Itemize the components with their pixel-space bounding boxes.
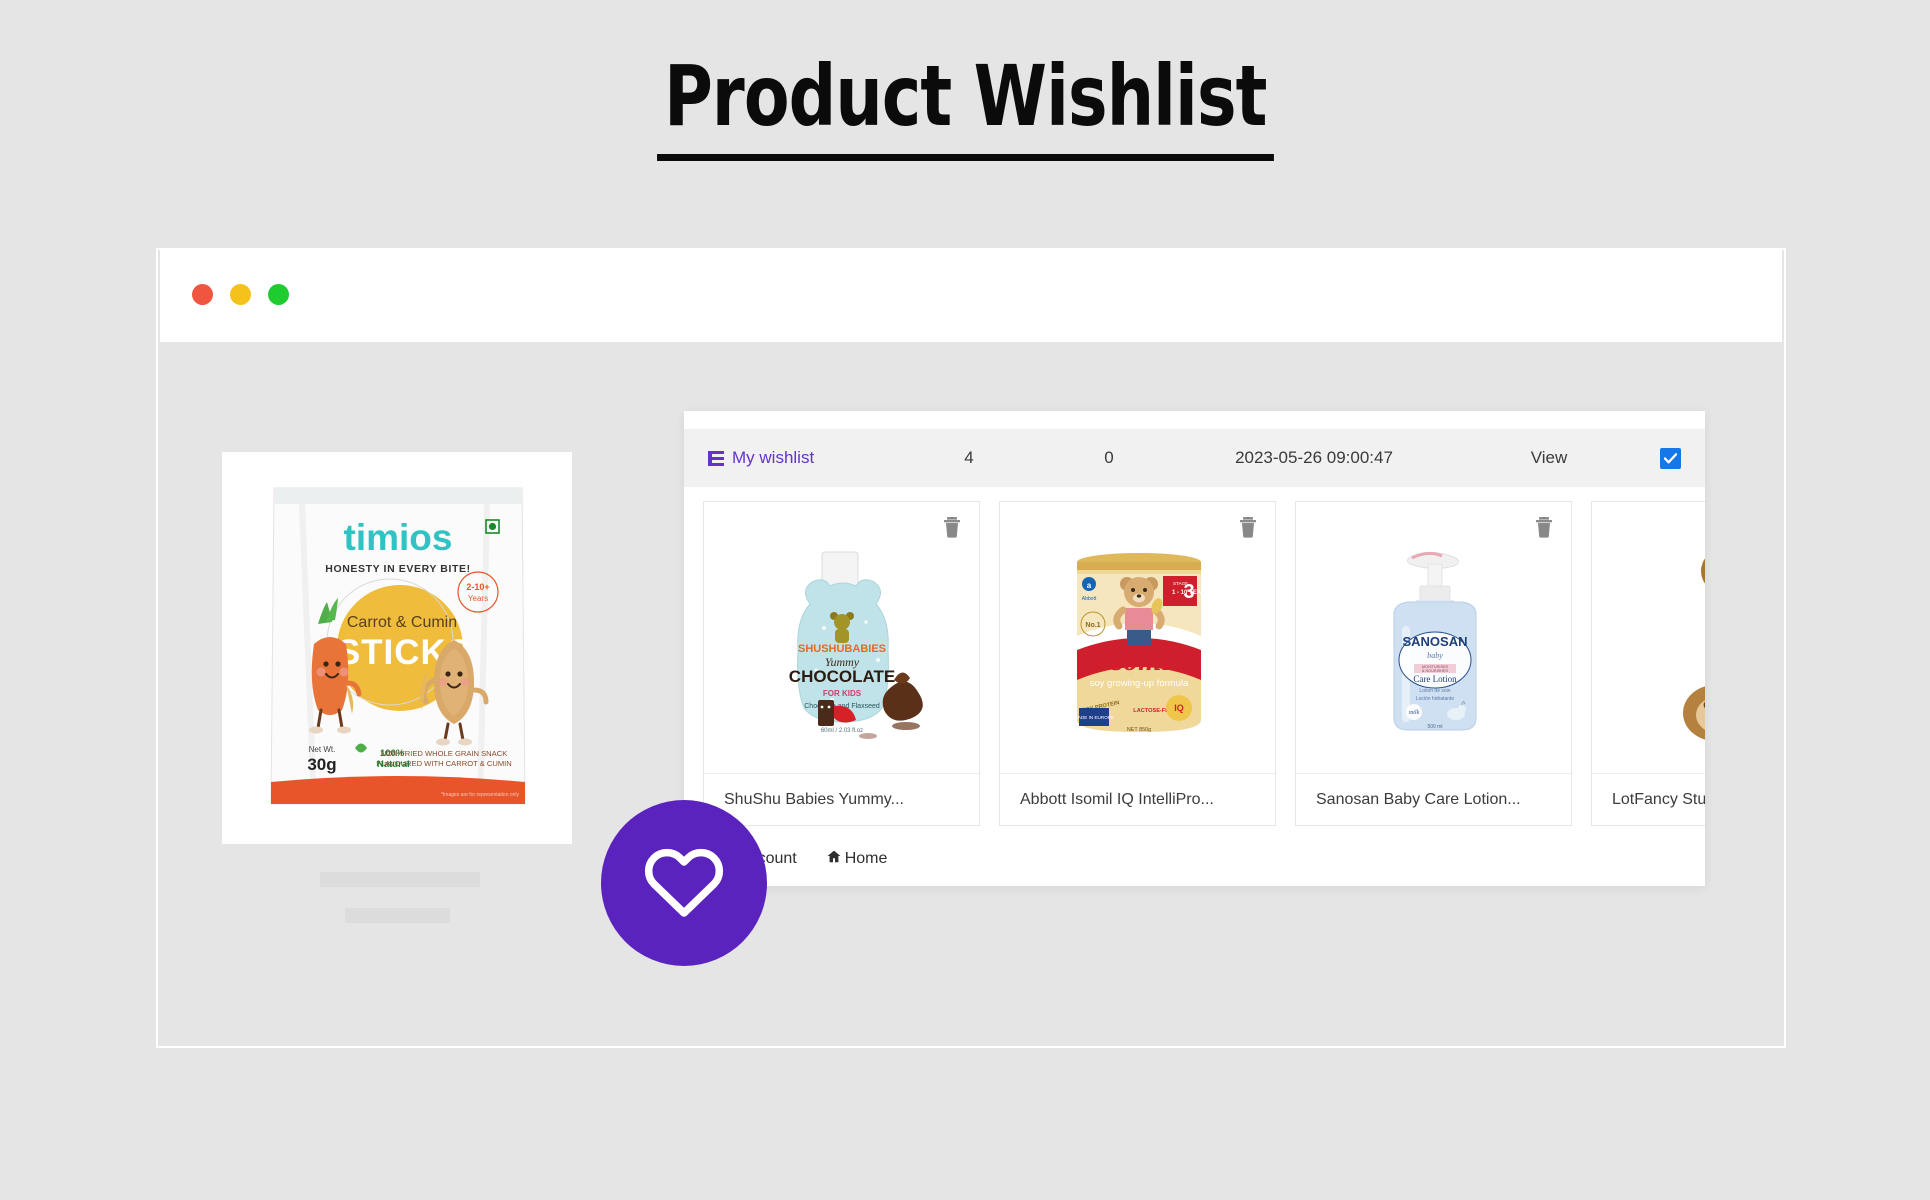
shushu-for-kids: FOR KIDS [822,689,861,698]
product-card[interactable]: SANOSAN baby MOISTURISES & NOURISHES Car… [1295,501,1572,826]
window-controls [192,284,289,305]
product-card[interactable]: SHUSHUBABIES Yummy CHOCOLATE FOR KIDS Ch… [703,501,980,826]
home-icon [827,850,841,868]
svg-text:a: a [1086,581,1091,590]
shushu-flavor-line2: CHOCOLATE [788,667,894,686]
timios-snack-pack-illustration: timios HONESTY IN EVERY BITE! 2-10+ Year… [222,452,572,844]
left-product-brand: timios [344,517,453,558]
placeholder-bar-secondary [345,908,450,923]
product-name[interactable]: ShuShu Babies Yummy... [704,773,981,825]
left-product-disclaimer: *Images are for representation only [441,792,520,798]
wishlist-select-cell[interactable] [1649,448,1705,469]
maximize-window-icon[interactable] [268,284,289,305]
svg-text:IQ: IQ [1174,703,1184,713]
wishlist-product-list: SHUSHUBABIES Yummy CHOCOLATE FOR KIDS Ch… [684,487,1705,826]
product-name[interactable]: Abbott Isomil IQ IntelliPro... [1000,773,1277,825]
left-product-age-line2: Years [468,594,488,603]
list-icon [708,451,724,466]
wishlist-header-row[interactable]: My wishlist 4 0 2023-05-26 09:00:47 View [684,429,1705,487]
product-name[interactable]: Sanosan Baby Care Lotion... [1296,773,1573,825]
left-product-desc-line2: FLAVOURED WITH CARROT & CUMIN [376,759,512,768]
left-product-tagline: HONESTY IN EVERY BITE! [325,563,470,575]
heart-icon [642,843,726,924]
lotfancy-teddy-bear-illustration [1611,537,1706,752]
trash-icon[interactable] [1238,516,1258,538]
wishlist-name-cell[interactable]: My wishlist [684,448,899,468]
isomil-brand: Isomil [1098,644,1178,677]
sanosan-product: Care Lotion [1413,674,1457,684]
wishlist-name-label: My wishlist [732,448,814,468]
browser-window-titlebar [160,250,1782,342]
trash-icon[interactable] [1534,516,1554,538]
wishlist-view-link[interactable]: View [1449,448,1649,468]
sanosan-brand: SANOSAN [1402,634,1467,649]
left-product-age-line1: 2-10+ [466,582,489,592]
minimize-window-icon[interactable] [230,284,251,305]
product-image [1592,536,1705,753]
isomil-abbott: Abbott [1081,596,1096,602]
wishlist-quantity: 4 [899,448,1039,468]
product-image: SANOSAN baby MOISTURISES & NOURISHES Car… [1296,536,1573,753]
left-product-flavor: Carrot & Cumin [347,614,457,631]
wishlist-panel: My wishlist 4 0 2023-05-26 09:00:47 View [684,411,1705,886]
sanosan-desc-line2: Loción hidratante [1415,696,1454,702]
sanosan-desc-line1: Lotion de soin [1419,688,1450,694]
breadcrumb-item-home[interactable]: Home [827,850,888,868]
panel-top-strip [684,411,1705,429]
featured-product-image: timios HONESTY IN EVERY BITE! 2-10+ Year… [222,452,572,844]
trash-icon[interactable] [942,516,962,538]
wishlist-date: 2023-05-26 09:00:47 [1179,448,1449,468]
shushu-brand: SHUSHUBABIES [797,643,885,655]
product-image: STAGE 1 - 10 YEARS 3 a Abbott No.1 [1000,536,1277,753]
product-name[interactable]: LotFancy Stuff... [1592,773,1705,825]
sanosan-volume: 500 ml [1427,724,1442,730]
wishlist-heart-badge[interactable] [601,800,767,966]
shushu-volume: 60ml / 2.03 fl.oz [820,728,862,734]
sanosan-claim-line2: & NOURISHES [1421,669,1448,673]
product-card[interactable]: LotFancy Stuff... [1591,501,1705,826]
sanosan-lotion-bottle-illustration: SANOSAN baby MOISTURISES & NOURISHES Car… [1350,540,1520,750]
wishlist-zero-count: 0 [1039,448,1179,468]
page-title: Product Wishlist [657,52,1274,161]
left-product-desc-line1: NON-FRIED WHOLE GRAIN SNACK [381,749,508,758]
isomil-net-weight: NET 850g [1126,727,1150,733]
placeholder-bar-primary [320,872,480,887]
product-image: SHUSHUBABIES Yummy CHOCOLATE FOR KIDS Ch… [704,536,981,753]
left-product-weight: 30g [307,755,336,774]
isomil-origin: MADE IN EUROPE [1074,715,1114,720]
close-window-icon[interactable] [192,284,213,305]
isomil-tagline: soy growing-up formula [1089,678,1188,689]
wishlist-checkbox[interactable] [1660,448,1681,469]
shushu-chocolate-bottle-illustration: SHUSHUBABIES Yummy CHOCOLATE FOR KIDS Ch… [738,540,948,750]
product-card[interactable]: STAGE 1 - 10 YEARS 3 a Abbott No.1 [999,501,1276,826]
breadcrumb-label: Home [845,850,888,868]
isomil-formula-tin-illustration: STAGE 1 - 10 YEARS 3 a Abbott No.1 [1039,540,1239,750]
isomil-no1-badge: No.1 [1085,622,1100,629]
isomil-stage-number: 3 [1183,581,1194,603]
page-title-container: Product Wishlist [0,52,1930,161]
sanosan-sub-brand: baby [1427,651,1443,660]
sanosan-milk-badge: milk [1408,710,1419,716]
left-product-weight-label: Net Wt. [309,745,336,754]
